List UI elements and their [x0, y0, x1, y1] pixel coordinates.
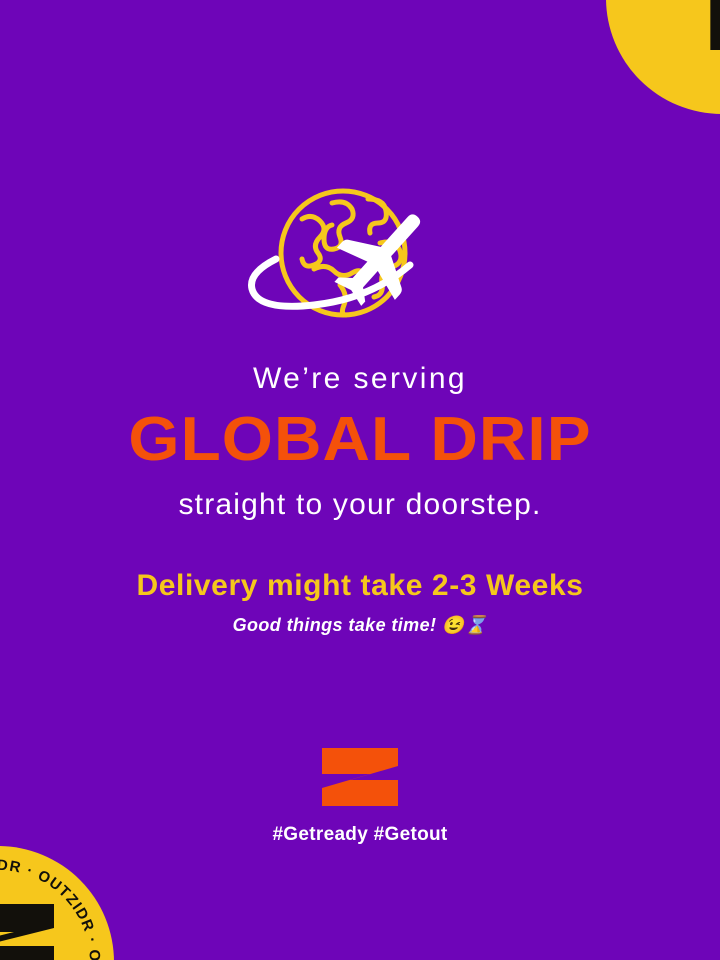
tagline-text: Good things take time! 😉⌛ [0, 615, 720, 636]
brand-badge-top-right: OUTZIDR · OUTZIDR · OUTZIDR · OUTZIDR · … [606, 0, 720, 114]
globe-icon [240, 173, 480, 343]
globe-airplane-illustration [0, 168, 720, 348]
delivery-estimate-text: Delivery might take 2-3 Weeks [0, 569, 720, 603]
headline-text: GLOBAL DRIP [0, 409, 720, 471]
subline-text: straight to your doorstep. [0, 487, 720, 523]
brand-badge-bottom-left: OUTZIDR · OUTZIDR · OUTZIDR · OUTZIDR · … [0, 846, 114, 960]
badge-z-mark [0, 902, 58, 960]
hashtags-text: #Getready #Getout [0, 824, 720, 846]
brand-logo-z [320, 748, 400, 806]
kicker-text: We’re serving [0, 362, 720, 397]
message-block: We’re serving GLOBAL DRIP straight to yo… [0, 362, 720, 636]
badge-letter: N [700, 0, 720, 73]
footer-block: #Getready #Getout [0, 748, 720, 846]
